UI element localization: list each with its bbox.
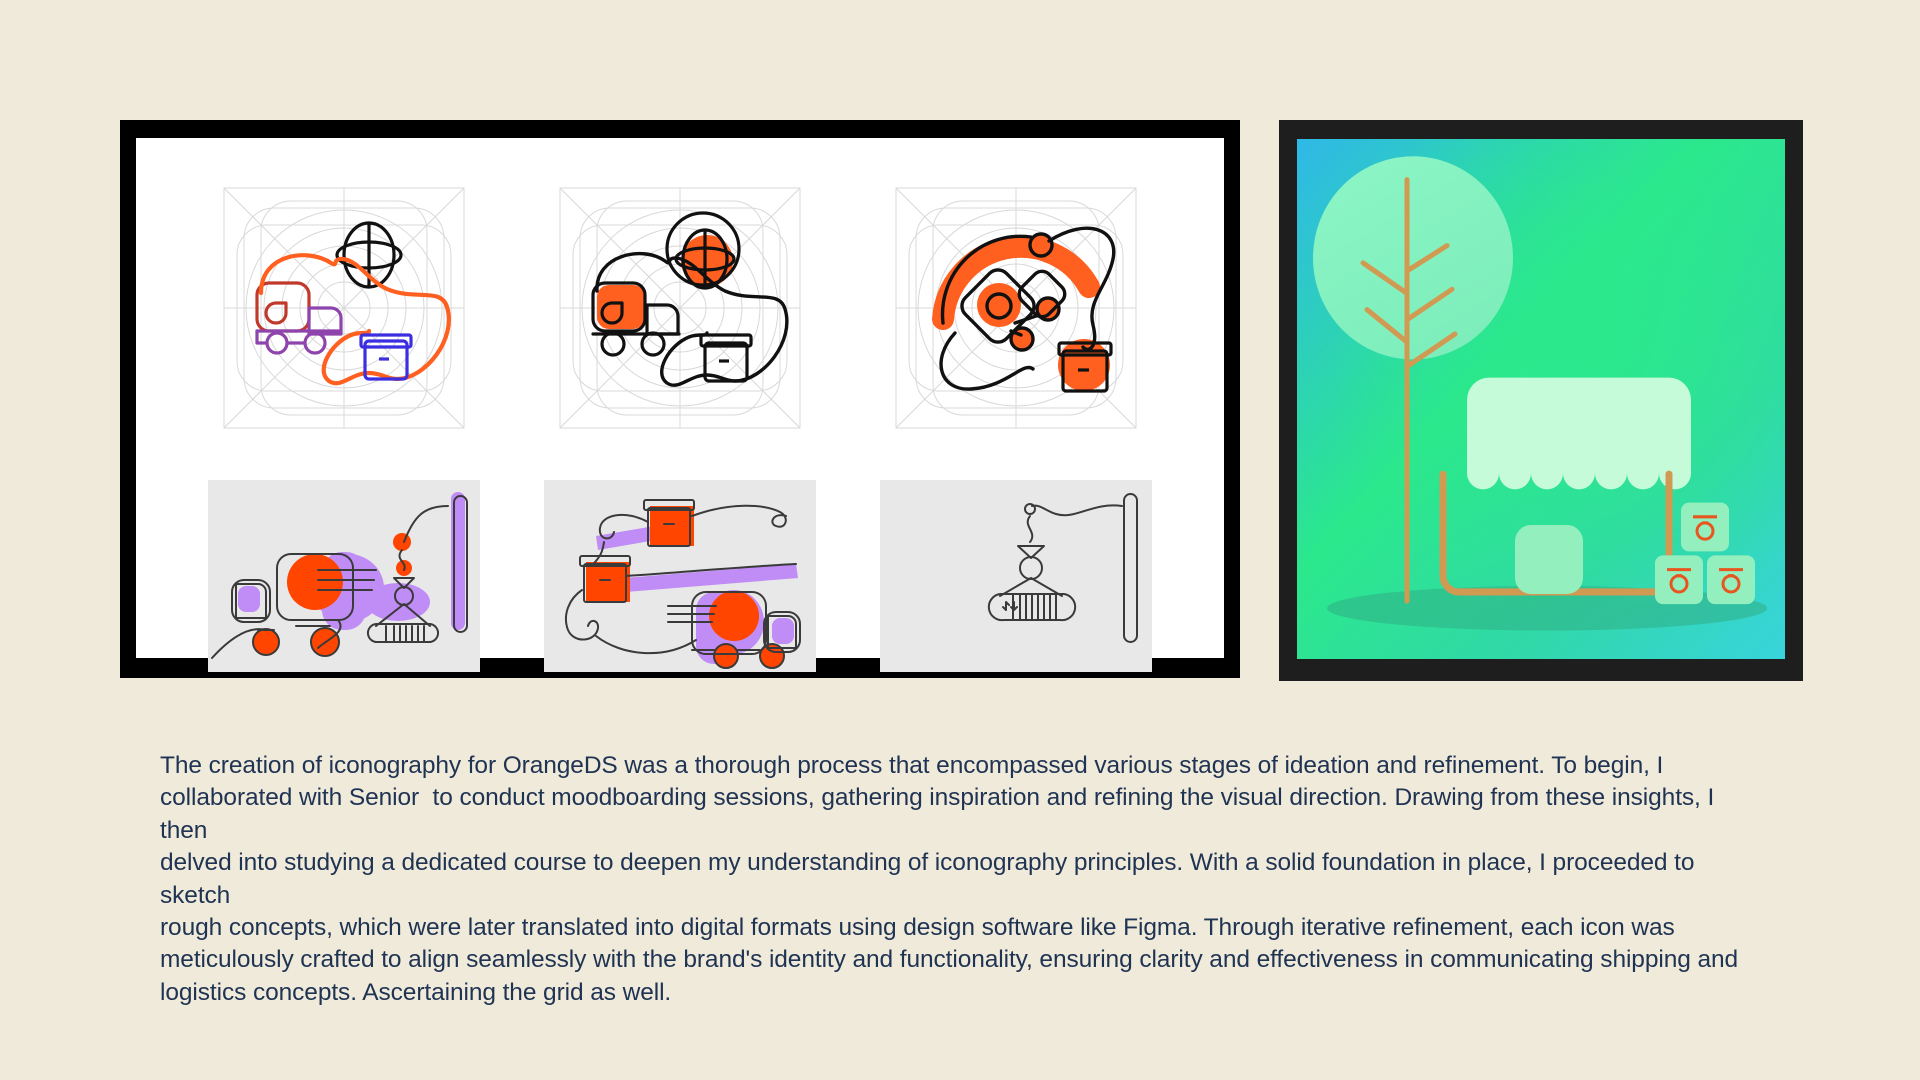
description-paragraph: The creation of iconography for OrangeDS… <box>160 750 1760 1009</box>
grid-study-network-nodes-orbit[interactable] <box>848 158 1184 458</box>
grid-study-1-svg <box>219 183 469 433</box>
shop-scene-svg <box>1297 139 1785 659</box>
sketch-1-svg <box>208 480 480 672</box>
grid-study-2-svg <box>555 183 805 433</box>
stall-door <box>1515 525 1583 594</box>
shop-illustration-canvas[interactable] <box>1297 139 1785 659</box>
sketch-3-svg <box>880 480 1152 672</box>
sketch-2-svg <box>544 480 816 672</box>
grid-study-3-svg <box>891 183 1141 433</box>
shop-illustration-frame <box>1279 120 1803 681</box>
sketch-boxes-and-truck[interactable] <box>512 466 848 686</box>
sketch-crane-container-lineart[interactable] <box>848 466 1184 686</box>
grid-study-delivery-truck-globe[interactable] <box>176 158 512 458</box>
market-stall-awning <box>1431 378 1691 490</box>
grid-study-truck-globe-filled[interactable] <box>512 158 848 458</box>
icon-board-canvas <box>136 138 1224 658</box>
icon-grid <box>136 138 1224 658</box>
sketch-truck-and-crane-container[interactable] <box>176 466 512 686</box>
icon-board-frame <box>120 120 1240 678</box>
